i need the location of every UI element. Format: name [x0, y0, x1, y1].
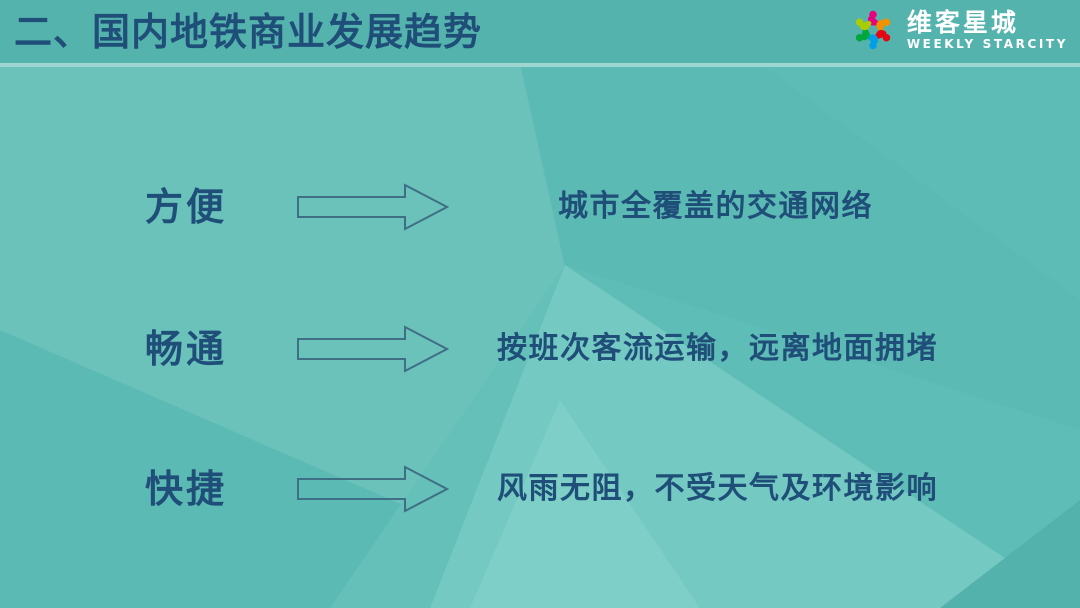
list-item: 快捷 风雨无阻，不受天气及环境影响 [0, 449, 1080, 529]
row-keyword: 快捷 [145, 449, 295, 529]
right-block-arrow-icon [297, 183, 449, 231]
row-keyword: 畅通 [145, 309, 295, 389]
row-description: 风雨无阻，不受天气及环境影响 [497, 449, 938, 529]
logo-wordmark: 维客星城 WEEKLY STARCITY [907, 9, 1068, 52]
logo-name-cn: 维客星城 [907, 9, 1019, 37]
list-item: 方便 城市全覆盖的交通网络 [0, 167, 1080, 247]
logo-name-en: WEEKLY STARCITY [907, 37, 1068, 52]
slide: 二、国内地铁商业发展趋势 [0, 0, 1080, 608]
list-item: 畅通 按班次客流运输，远离地面拥堵 [0, 309, 1080, 389]
content-area: 方便 城市全覆盖的交通网络 畅通 按班次客流运输，远离地面拥堵 快捷 风雨无阻，… [0, 67, 1080, 608]
right-block-arrow-icon [297, 325, 449, 373]
right-block-arrow-icon [297, 465, 449, 513]
weekly-starcity-people-circle-icon [848, 5, 898, 55]
row-description: 城市全覆盖的交通网络 [558, 167, 873, 247]
row-description: 按班次客流运输，远离地面拥堵 [497, 309, 938, 389]
header-divider [0, 63, 1080, 67]
page-title: 二、国内地铁商业发展趋势 [14, 6, 482, 58]
row-keyword: 方便 [145, 167, 295, 247]
brand-logo: 维客星城 WEEKLY STARCITY [848, 5, 1068, 55]
